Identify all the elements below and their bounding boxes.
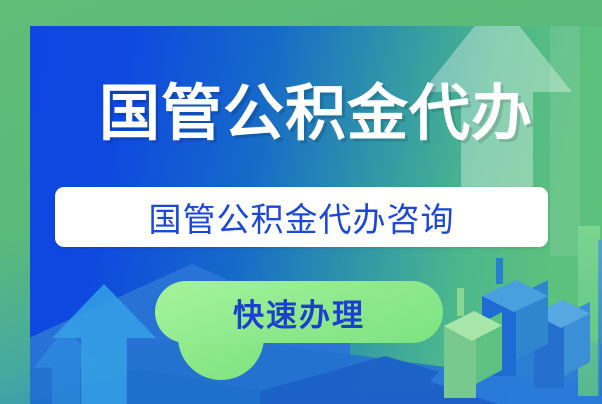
banner-headline: 国管公积金代办 (30, 78, 602, 148)
subtitle-text: 国管公积金代办咨询 (149, 193, 455, 241)
quick-apply-button[interactable]: 快速办理 (155, 281, 443, 343)
subtitle-card: 国管公积金代办咨询 (55, 187, 548, 247)
banner-content: 国管公积金代办 国管公积金代办咨询 快速办理 (30, 26, 602, 404)
quick-apply-button-label: 快速办理 (233, 290, 365, 335)
promo-banner: 国管公积金代办 国管公积金代办咨询 快速办理 (0, 0, 602, 404)
banner-inner-panel: 国管公积金代办 国管公积金代办咨询 快速办理 (30, 26, 602, 404)
